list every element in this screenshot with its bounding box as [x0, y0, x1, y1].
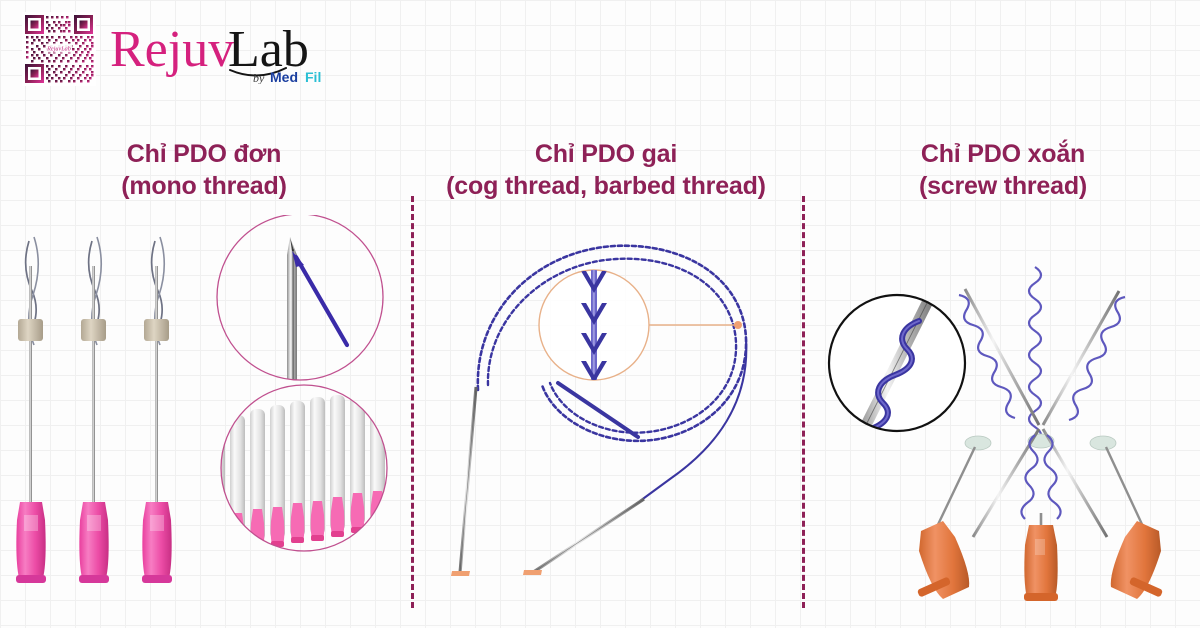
panel-cog-title: Chỉ PDO gai (cog thread, barbed thread) [412, 138, 800, 202]
barb-magnifier [539, 263, 742, 387]
screw-needle [1043, 291, 1163, 599]
panel-divider-2 [802, 196, 805, 608]
mono-thread-illustration [0, 215, 408, 615]
packaged-thread-tube [210, 391, 385, 553]
packaged-threads-inset [210, 385, 387, 553]
panel-cog-thread: Chỉ PDO gai (cog thread, barbed thread) [412, 0, 800, 628]
mono-needle [16, 237, 46, 583]
poster-canvas: RejuvLab Rejuv Lab by Med Fil Chỉ PDO đơ… [0, 0, 1200, 628]
panel-mono-thread: Chỉ PDO đơn (mono thread) [0, 0, 408, 628]
mono-needle [79, 237, 109, 583]
panel-mono-title: Chỉ PDO đơn (mono thread) [0, 138, 408, 202]
panel-screw-title: Chỉ PDO xoắn (screw thread) [806, 138, 1200, 202]
screw-needle [1024, 261, 1058, 601]
cog-needle-group [451, 387, 644, 576]
needle-tip-inset [217, 215, 383, 385]
panel-screw-thread: Chỉ PDO xoắn (screw thread) [806, 0, 1200, 628]
mono-needle-group [16, 237, 172, 583]
screw-thread-illustration [806, 215, 1200, 615]
spiral-thread-magnifier [829, 283, 965, 443]
cog-thread-illustration [412, 215, 800, 615]
mono-needle [142, 237, 172, 583]
screw-needle-group [917, 261, 1163, 601]
